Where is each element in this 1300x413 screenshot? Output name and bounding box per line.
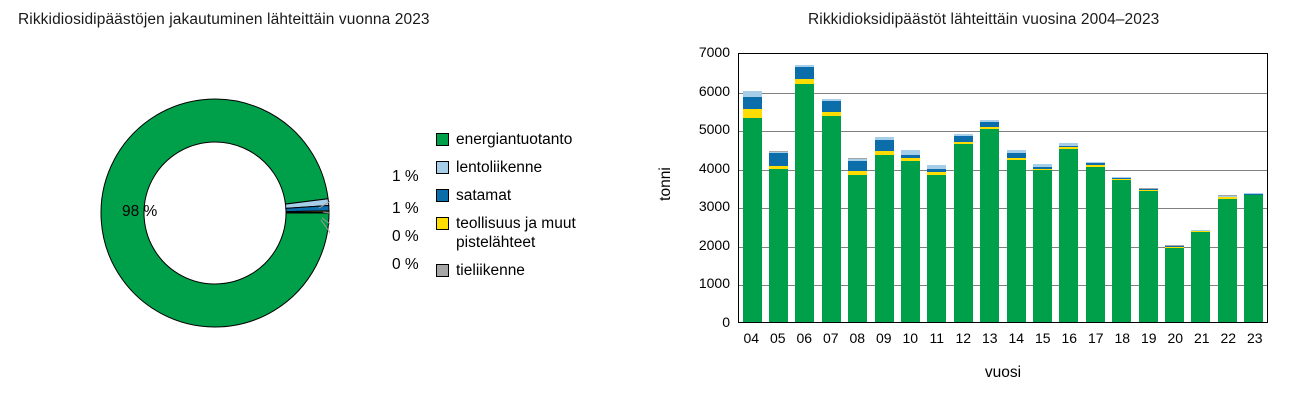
bar-segment[interactable] xyxy=(875,155,894,322)
table-row[interactable] xyxy=(1191,230,1210,322)
y-axis-tick-label: 5000 xyxy=(699,121,730,137)
pie-label-teollisuus: 0 % xyxy=(392,228,419,246)
y-axis-tick-label: 4000 xyxy=(699,160,730,176)
bar-segment[interactable] xyxy=(954,144,973,322)
x-axis-tick-label: 23 xyxy=(1245,330,1264,346)
bar-segment[interactable] xyxy=(1139,191,1158,322)
bar-segment[interactable] xyxy=(769,153,788,166)
x-axis-label: vuosi xyxy=(738,364,1268,382)
table-row[interactable] xyxy=(980,120,999,322)
legend-swatch-icon xyxy=(436,189,449,202)
y-axis-ticks: 01000200030004000500060007000 xyxy=(660,0,730,413)
legend-item[interactable]: teollisuus ja muut pistelähteet xyxy=(436,214,651,252)
bar-segment[interactable] xyxy=(980,129,999,322)
y-axis-tick-label: 7000 xyxy=(699,44,730,60)
table-row[interactable] xyxy=(901,150,920,322)
legend-item[interactable]: lentoliikenne xyxy=(436,158,651,177)
x-axis-tick-label: 12 xyxy=(954,330,973,346)
y-axis-tick-label: 0 xyxy=(722,314,730,330)
table-row[interactable] xyxy=(1139,188,1158,322)
bar-segment[interactable] xyxy=(901,161,920,322)
bar-segment[interactable] xyxy=(743,118,762,322)
x-axis-ticks: 0405060708091011121314151617181920212223 xyxy=(738,330,1268,346)
table-row[interactable] xyxy=(1218,195,1237,322)
bar-segment[interactable] xyxy=(822,116,841,322)
pie-label-satamat: 1 % xyxy=(392,200,419,218)
x-axis-tick-label: 19 xyxy=(1139,330,1158,346)
bar-segment[interactable] xyxy=(795,67,814,78)
pie-chart-title: Rikkidiosidipäästöjen jakautuminen lähte… xyxy=(18,11,430,29)
bar-segment[interactable] xyxy=(1007,160,1026,322)
bar-segment[interactable] xyxy=(1218,199,1237,322)
pie-slice[interactable] xyxy=(286,212,329,213)
bar-segment[interactable] xyxy=(1059,149,1078,322)
y-axis-tick-label: 1000 xyxy=(699,275,730,291)
pie-chart-panel: Rikkidiosidipäästöjen jakautuminen lähte… xyxy=(0,0,660,413)
y-axis-tick-label: 3000 xyxy=(699,198,730,214)
x-axis-tick-label: 06 xyxy=(795,330,814,346)
legend-swatch-icon xyxy=(436,217,449,230)
x-axis-tick-label: 05 xyxy=(768,330,787,346)
legend-item[interactable]: energiantuotanto xyxy=(436,130,651,149)
x-axis-tick-label: 15 xyxy=(1033,330,1052,346)
y-axis-label: tonni xyxy=(657,167,675,201)
x-axis-tick-label: 09 xyxy=(874,330,893,346)
x-axis-tick-label: 13 xyxy=(980,330,999,346)
legend-item-label: lentoliikenne xyxy=(456,158,542,177)
x-axis-tick-label: 21 xyxy=(1192,330,1211,346)
legend-swatch-icon xyxy=(436,161,449,174)
legend-item[interactable]: satamat xyxy=(436,186,651,205)
legend-item[interactable]: tieliikenne xyxy=(436,261,651,280)
legend-item-label: satamat xyxy=(456,186,511,205)
x-axis-tick-label: 08 xyxy=(848,330,867,346)
chart-legend: energiantuotantolentoliikennesatamatteol… xyxy=(436,130,651,289)
x-axis-tick-label: 11 xyxy=(927,330,946,346)
bar-segment[interactable] xyxy=(743,109,762,117)
table-row[interactable] xyxy=(1244,193,1263,322)
x-axis-tick-label: 04 xyxy=(742,330,761,346)
table-row[interactable] xyxy=(1165,245,1184,322)
bar-segment[interactable] xyxy=(1165,248,1184,322)
bar-segment[interactable] xyxy=(1112,180,1131,322)
table-row[interactable] xyxy=(769,151,788,322)
x-axis-tick-label: 07 xyxy=(821,330,840,346)
bar-segment[interactable] xyxy=(927,175,946,322)
x-axis-tick-label: 10 xyxy=(901,330,920,346)
bar-segment[interactable] xyxy=(1086,167,1105,322)
bar-segment[interactable] xyxy=(848,161,867,171)
legend-item-label: teollisuus ja muut pistelähteet xyxy=(456,214,651,252)
legend-item-label: tieliikenne xyxy=(456,261,525,280)
legend-swatch-icon xyxy=(436,133,449,146)
bar-segment[interactable] xyxy=(795,84,814,322)
bar-chart-panel: Rikkidioksidipäästöt lähteittäin vuosina… xyxy=(660,0,1300,413)
x-axis-tick-label: 20 xyxy=(1166,330,1185,346)
x-axis-tick-label: 17 xyxy=(1086,330,1105,346)
table-row[interactable] xyxy=(795,65,814,322)
table-row[interactable] xyxy=(1112,177,1131,322)
table-row[interactable] xyxy=(1086,162,1105,322)
table-row[interactable] xyxy=(1007,150,1026,322)
y-axis-tick-label: 2000 xyxy=(699,237,730,253)
pie-label-lentoliikenne: 1 % xyxy=(392,168,419,186)
bar-segment[interactable] xyxy=(743,97,762,109)
table-row[interactable] xyxy=(743,91,762,322)
table-row[interactable] xyxy=(875,137,894,322)
table-row[interactable] xyxy=(1033,164,1052,322)
bar-segment[interactable] xyxy=(822,101,841,112)
table-row[interactable] xyxy=(954,134,973,322)
legend-item-label: energiantuotanto xyxy=(456,130,572,149)
bar-segment[interactable] xyxy=(1191,232,1210,322)
legend-swatch-icon xyxy=(436,264,449,277)
bar-segment[interactable] xyxy=(769,169,788,322)
bar-series-container xyxy=(739,54,1267,322)
bar-segment[interactable] xyxy=(1033,170,1052,322)
bar-segment[interactable] xyxy=(875,140,894,151)
plot-area xyxy=(738,53,1268,323)
x-axis-tick-label: 14 xyxy=(1007,330,1026,346)
table-row[interactable] xyxy=(927,165,946,322)
pie-label-tieliikenne: 0 % xyxy=(392,256,419,274)
bar-chart-title: Rikkidioksidipäästöt lähteittäin vuosina… xyxy=(808,11,1159,29)
bar-segment[interactable] xyxy=(1244,195,1263,322)
table-row[interactable] xyxy=(822,99,841,322)
x-axis-tick-label: 16 xyxy=(1060,330,1079,346)
y-axis-tick-label: 6000 xyxy=(699,83,730,99)
x-axis-tick-label: 18 xyxy=(1113,330,1132,346)
table-row[interactable] xyxy=(848,158,867,322)
pie-label-energiantuotanto: 98 % xyxy=(122,203,157,221)
bar-segment[interactable] xyxy=(848,175,867,322)
table-row[interactable] xyxy=(1059,143,1078,322)
x-axis-tick-label: 22 xyxy=(1219,330,1238,346)
